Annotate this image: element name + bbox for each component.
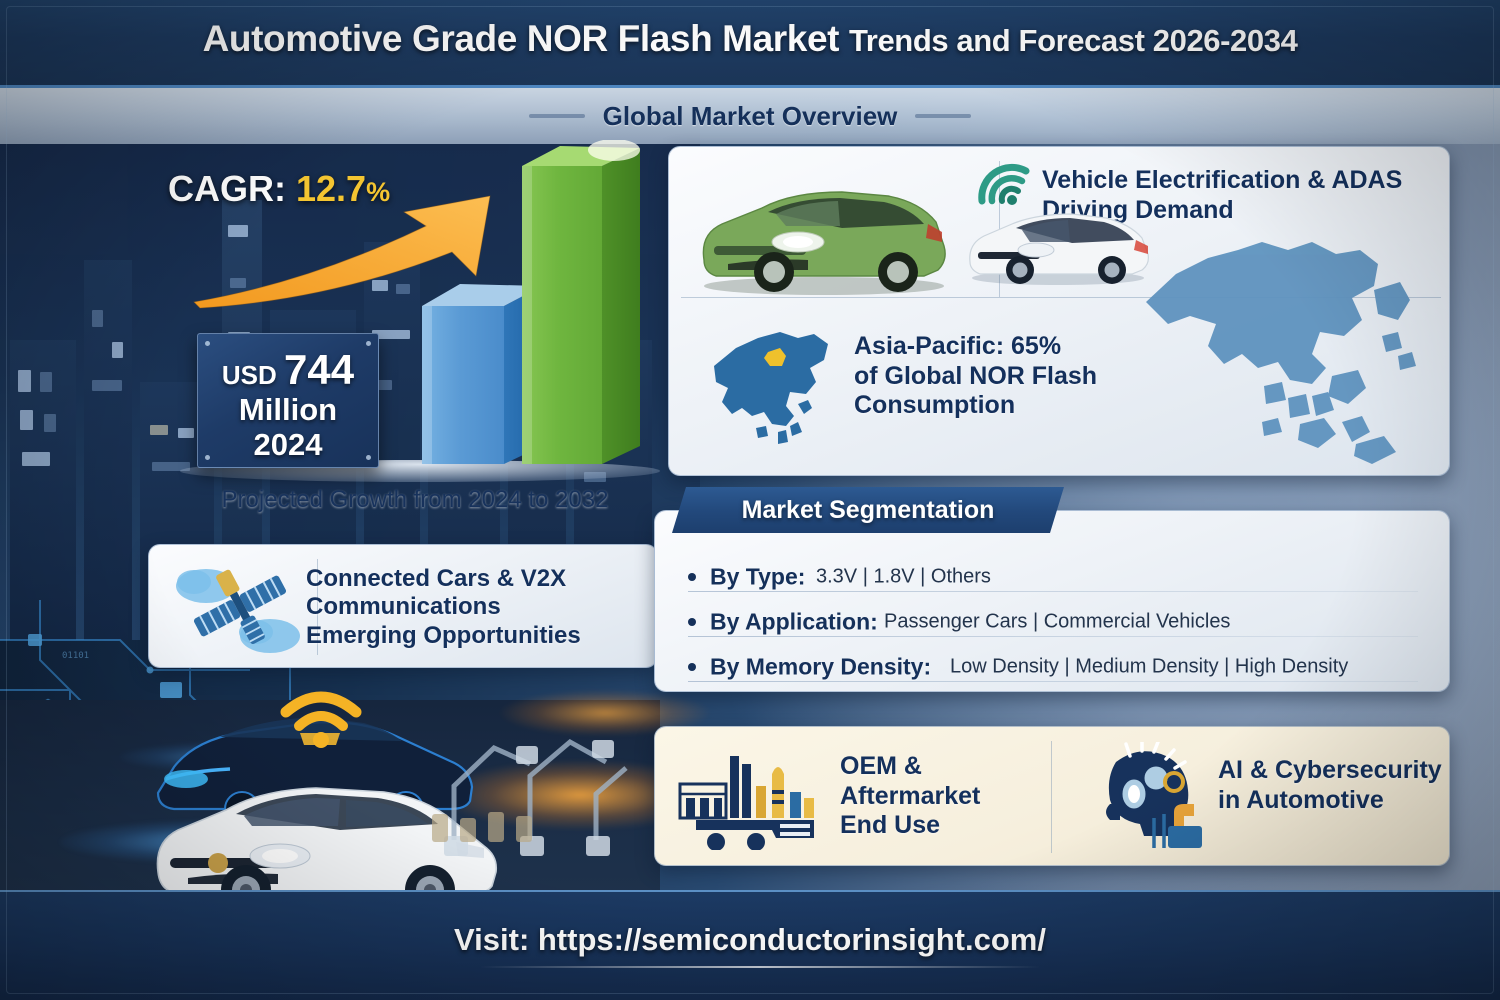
bullet-icon (688, 573, 696, 581)
segmentation-ribbon: Market Segmentation (672, 487, 1064, 533)
usd-value: 744 (284, 346, 354, 393)
segmentation-label-application: By Application: (710, 609, 878, 636)
segmentation-value-application: Passenger Cars | Commercial Vehicles (884, 611, 1230, 634)
segmentation-title: Market Segmentation (672, 487, 1064, 533)
ai-head-icon (1082, 742, 1212, 852)
infographic-canvas: 01101 10 11 DATA (0, 0, 1500, 1000)
segmentation-value-memory-density: Low Density | Medium Density | High Dens… (950, 656, 1348, 679)
segmentation-row-type: By Type: 3.3V | 1.8V | Others (688, 560, 1428, 594)
title-main: Automotive Grade NOR Flash Market (203, 18, 840, 59)
wifi-icon (278, 688, 364, 750)
bullet-icon (688, 663, 696, 671)
ai-headline: AI & Cybersecurity in Automotive (1218, 756, 1468, 815)
connected-cars-headline: Connected Cars & V2X Communications Emer… (306, 565, 656, 650)
signal-waves-icon (978, 163, 1030, 207)
segmentation-separator (688, 591, 1418, 592)
asia-map-large-graphic (1112, 236, 1432, 474)
connected-cars-line1: Connected Cars & V2X (306, 565, 656, 593)
band-dash-left (529, 114, 585, 118)
ai-line2: in Automotive (1218, 786, 1468, 816)
oem-headline: OEM & Aftermarket End Use (840, 752, 1070, 841)
page-title: Automotive Grade NOR Flash Market Trends… (0, 18, 1500, 60)
svg-text:01101: 01101 (62, 651, 89, 661)
segmentation-separator (688, 681, 1418, 682)
robot-arm-graphic (420, 690, 650, 860)
usd-year: 2024 (198, 427, 378, 463)
bar-2032 (518, 140, 648, 468)
usd-unit: Million (198, 392, 378, 428)
footer-visit-text: Visit: https://semiconductorinsight.com/ (0, 922, 1500, 958)
oem-line2: Aftermarket (840, 782, 1070, 812)
overview-band-label: Global Market Overview (603, 101, 898, 132)
segmentation-label-memory-density: By Memory Density: (710, 654, 931, 681)
overview-band: Global Market Overview (0, 88, 1500, 144)
segmentation-separator (688, 636, 1418, 637)
segmentation-row-application: By Application: Passenger Cars | Commerc… (688, 605, 1428, 639)
factory-icon (676, 746, 826, 850)
usd-label: USD (222, 360, 277, 390)
satellite-icon (170, 556, 310, 660)
band-dash-right (915, 114, 971, 118)
segmentation-label-type: By Type: (710, 564, 805, 591)
projection-caption: Projected Growth from 2024 to 2032 (150, 486, 680, 514)
oem-line1: OEM & (840, 752, 1070, 782)
market-value-box: USD 744 Million 2024 (197, 333, 379, 468)
bullet-icon (688, 618, 696, 626)
title-sub: Trends and Forecast 2026-2034 (849, 23, 1297, 58)
connected-cars-line3: Emerging Opportunities (306, 622, 656, 650)
footer-rule (480, 966, 1040, 968)
segmentation-value-type: 3.3V | 1.8V | Others (816, 566, 991, 589)
oem-line3: End Use (840, 811, 1070, 841)
electrification-line1: Vehicle Electrification & ADAS (1042, 166, 1422, 196)
ai-line1: AI & Cybersecurity (1218, 756, 1468, 786)
green-car-photo (692, 176, 952, 296)
asia-map-icon (694, 320, 844, 455)
connected-cars-line2: Communications (306, 593, 656, 621)
segmentation-row-memory-density: By Memory Density: Low Density | Medium … (688, 650, 1428, 684)
